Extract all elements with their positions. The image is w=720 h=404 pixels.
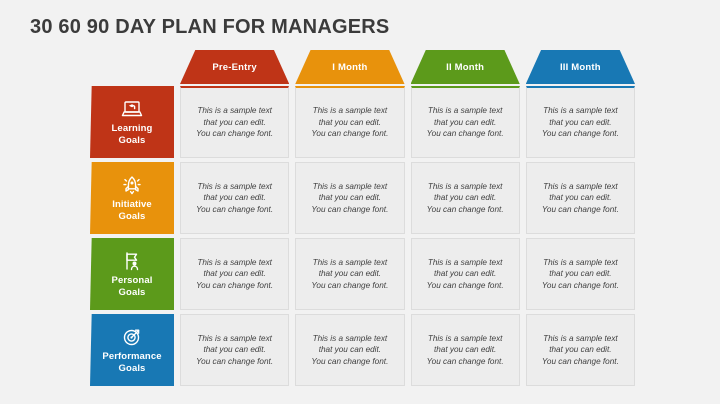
column-header-label: I Month bbox=[332, 62, 367, 73]
row-label-personal-goals[interactable]: PersonalGoals bbox=[90, 238, 174, 310]
column-header-iii-month[interactable]: III Month bbox=[526, 50, 635, 84]
cell-text: This is a sample textthat you can edit.Y… bbox=[427, 181, 504, 216]
table-cell[interactable]: This is a sample textthat you can edit.Y… bbox=[526, 86, 635, 158]
cell-text: This is a sample textthat you can edit.Y… bbox=[311, 257, 388, 292]
cell-text: This is a sample textthat you can edit.Y… bbox=[196, 257, 273, 292]
person-flag-icon bbox=[120, 250, 144, 272]
laptop-graduation-icon bbox=[120, 98, 144, 120]
rocket-icon bbox=[120, 174, 144, 196]
row-label-performance-goals[interactable]: PerformanceGoals bbox=[90, 314, 174, 386]
table-cell[interactable]: This is a sample textthat you can edit.Y… bbox=[180, 86, 289, 158]
cell-text: This is a sample textthat you can edit.Y… bbox=[196, 181, 273, 216]
row-label-learning-goals[interactable]: LearningGoals bbox=[90, 86, 174, 158]
cell-text: This is a sample textthat you can edit.Y… bbox=[427, 105, 504, 140]
header-banner-shape: I Month bbox=[295, 50, 404, 84]
header-banner-shape: Pre-Entry bbox=[180, 50, 289, 84]
cell-text: This is a sample textthat you can edit.Y… bbox=[311, 333, 388, 368]
header-banner-shape: II Month bbox=[411, 50, 520, 84]
table-cell[interactable]: This is a sample textthat you can edit.Y… bbox=[411, 162, 520, 234]
target-arrow-icon bbox=[120, 326, 144, 348]
cell-text: This is a sample textthat you can edit.Y… bbox=[196, 333, 273, 368]
row-label-text: PersonalGoals bbox=[112, 275, 153, 298]
table-row: InitiativeGoals This is a sample texttha… bbox=[90, 162, 635, 234]
cell-text: This is a sample textthat you can edit.Y… bbox=[542, 105, 619, 140]
cell-text: This is a sample textthat you can edit.Y… bbox=[311, 181, 388, 216]
column-header-i-month[interactable]: I Month bbox=[295, 50, 404, 84]
table-cell[interactable]: This is a sample textthat you can edit.Y… bbox=[526, 314, 635, 386]
table-cell[interactable]: This is a sample textthat you can edit.Y… bbox=[295, 314, 404, 386]
table-row: PerformanceGoals This is a sample textth… bbox=[90, 314, 635, 386]
column-header-label: Pre-Entry bbox=[212, 62, 257, 73]
matrix-body: LearningGoals This is a sample textthat … bbox=[90, 86, 635, 386]
plan-matrix: Pre-Entry I Month II Month III Month bbox=[90, 50, 635, 386]
cell-text: This is a sample textthat you can edit.Y… bbox=[427, 333, 504, 368]
row-label-text: InitiativeGoals bbox=[112, 199, 152, 222]
table-cell[interactable]: This is a sample textthat you can edit.Y… bbox=[180, 162, 289, 234]
cell-text: This is a sample textthat you can edit.Y… bbox=[542, 181, 619, 216]
table-cell[interactable]: This is a sample textthat you can edit.Y… bbox=[180, 314, 289, 386]
column-header-pre-entry[interactable]: Pre-Entry bbox=[180, 50, 289, 84]
table-cell[interactable]: This is a sample textthat you can edit.Y… bbox=[411, 86, 520, 158]
table-row: PersonalGoals This is a sample textthat … bbox=[90, 238, 635, 310]
header-banner-shape: III Month bbox=[526, 50, 635, 84]
row-label-text: PerformanceGoals bbox=[102, 351, 161, 374]
table-cell[interactable]: This is a sample textthat you can edit.Y… bbox=[411, 238, 520, 310]
cell-text: This is a sample textthat you can edit.Y… bbox=[542, 257, 619, 292]
row-label-initiative-goals[interactable]: InitiativeGoals bbox=[90, 162, 174, 234]
column-header-row: Pre-Entry I Month II Month III Month bbox=[180, 50, 635, 84]
table-cell[interactable]: This is a sample textthat you can edit.Y… bbox=[295, 162, 404, 234]
table-cell[interactable]: This is a sample textthat you can edit.Y… bbox=[295, 238, 404, 310]
cell-text: This is a sample textthat you can edit.Y… bbox=[542, 333, 619, 368]
table-cell[interactable]: This is a sample textthat you can edit.Y… bbox=[295, 86, 404, 158]
cell-text: This is a sample textthat you can edit.Y… bbox=[196, 105, 273, 140]
page-title: 30 60 90 DAY PLAN FOR MANAGERS bbox=[30, 16, 389, 39]
table-cell[interactable]: This is a sample textthat you can edit.Y… bbox=[526, 162, 635, 234]
column-header-label: II Month bbox=[446, 62, 484, 73]
column-header-label: III Month bbox=[560, 62, 601, 73]
table-row: LearningGoals This is a sample textthat … bbox=[90, 86, 635, 158]
table-cell[interactable]: This is a sample textthat you can edit.Y… bbox=[180, 238, 289, 310]
column-header-ii-month[interactable]: II Month bbox=[411, 50, 520, 84]
row-label-text: LearningGoals bbox=[112, 123, 153, 146]
table-cell[interactable]: This is a sample textthat you can edit.Y… bbox=[411, 314, 520, 386]
cell-text: This is a sample textthat you can edit.Y… bbox=[427, 257, 504, 292]
table-cell[interactable]: This is a sample textthat you can edit.Y… bbox=[526, 238, 635, 310]
cell-text: This is a sample textthat you can edit.Y… bbox=[311, 105, 388, 140]
